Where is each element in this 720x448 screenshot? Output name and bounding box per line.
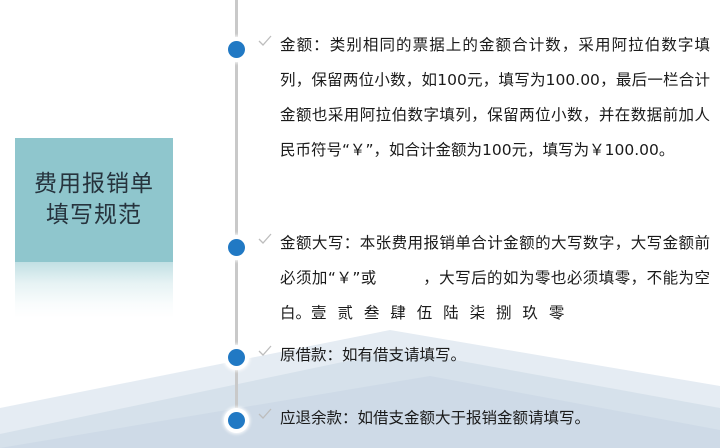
bullet-text-amount: 金额：类别相同的票据上的金额合计数，采用阿拉伯数字填列，保留两位小数，如100元… xyxy=(280,28,710,168)
slide-canvas: 费用报销单 填写规范 金额：类别相同的票据上的金额合计数，采用阿拉伯数字填列，保… xyxy=(0,0,720,448)
title-card: 费用报销单 填写规范 xyxy=(15,138,173,262)
bullet-item-refund-balance: 应退余款：如借支金额大于报销金额请填写。 xyxy=(258,401,710,436)
check-icon xyxy=(258,401,280,420)
bullet-text-original-loan: 原借款：如有借支请填写。 xyxy=(280,338,710,373)
bullet-text-refund-balance: 应退余款：如借支金额大于报销金额请填写。 xyxy=(280,401,710,436)
title-line-1: 费用报销单 xyxy=(34,169,154,200)
timeline-dot-3[interactable] xyxy=(224,345,249,370)
check-icon xyxy=(258,28,280,47)
bullet-text-amount-in-words: 金额大写：本张费用报销单合计金额的大写数字，大写金额前必须加“￥”或，大写后的如… xyxy=(280,226,710,331)
check-icon xyxy=(258,226,280,245)
capital-numerals: 壹 贰 叁 肆 伍 陆 柒 捌 玖 零 xyxy=(311,304,567,322)
bullet-item-original-loan: 原借款：如有借支请填写。 xyxy=(258,338,710,373)
check-icon xyxy=(258,338,280,357)
timeline-dot-1[interactable] xyxy=(224,37,249,62)
bullet-item-amount-in-words: 金额大写：本张费用报销单合计金额的大写数字，大写金额前必须加“￥”或，大写后的如… xyxy=(258,226,710,331)
title-card-reflection xyxy=(15,262,173,318)
timeline-dot-2[interactable] xyxy=(224,235,249,260)
title-line-2: 填写规范 xyxy=(46,200,142,231)
bullet-item-amount: 金额：类别相同的票据上的金额合计数，采用阿拉伯数字填列，保留两位小数，如100元… xyxy=(258,28,710,168)
timeline-dot-4[interactable] xyxy=(224,408,249,433)
